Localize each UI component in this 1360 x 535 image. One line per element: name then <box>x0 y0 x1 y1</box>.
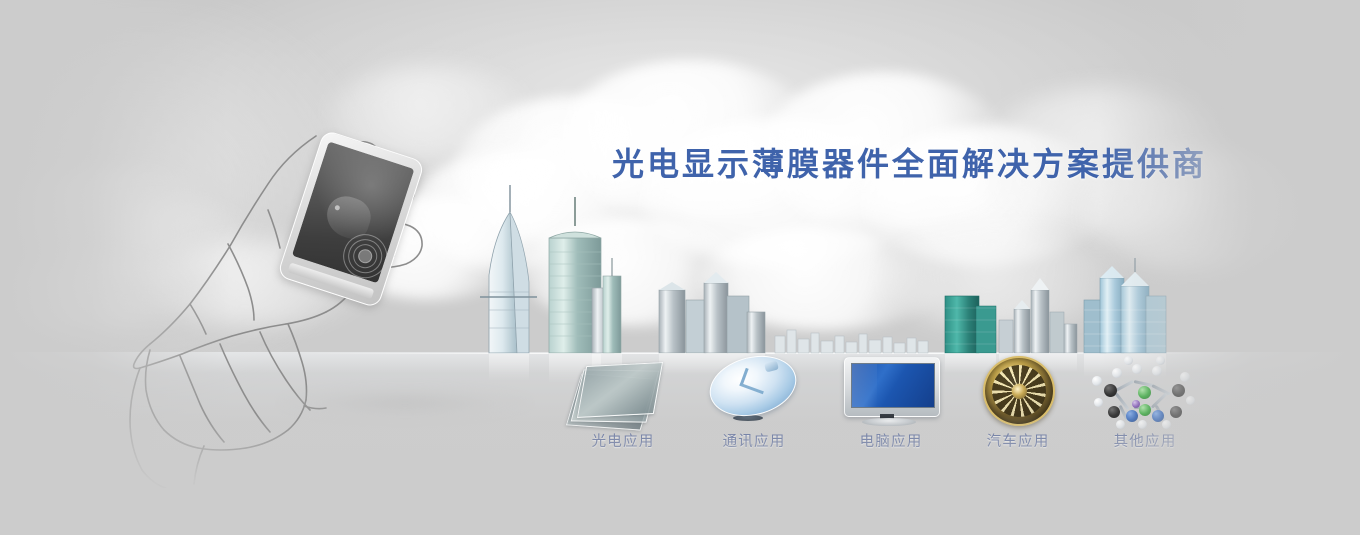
glass-panel-stack-icon <box>560 352 686 424</box>
atom-phosphorus <box>1132 400 1140 408</box>
hand-shadow <box>280 386 530 420</box>
atom-hydrogen <box>1152 366 1162 376</box>
atom-hydrogen <box>1138 420 1147 429</box>
molecule-bond <box>1151 384 1170 395</box>
app-label: 其他应用 <box>1082 430 1208 451</box>
computer-monitor-icon <box>828 352 954 424</box>
alloy-wheel-icon <box>955 352 1081 424</box>
app-item-computer[interactable]: 电脑应用 <box>828 352 954 451</box>
atom-hydrogen <box>1186 396 1195 405</box>
app-item-other[interactable]: 其他应用 <box>1082 352 1208 451</box>
app-label: 通讯应用 <box>691 430 817 451</box>
atom-hydrogen <box>1132 364 1142 374</box>
app-item-optoelectronic[interactable]: 光电应用 <box>560 352 686 451</box>
atom-carbon <box>1172 384 1185 397</box>
atom-hydrogen <box>1092 376 1102 386</box>
molecule-structure <box>1090 354 1200 424</box>
wheel-hub <box>1012 384 1027 399</box>
molecule-model-icon <box>1082 352 1208 424</box>
atom-metal-center <box>1139 404 1151 416</box>
atom-hydrogen <box>1094 398 1103 407</box>
app-item-automotive[interactable]: 汽车应用 <box>955 352 1081 451</box>
atom-hydrogen <box>1116 420 1125 429</box>
app-label: 汽车应用 <box>955 430 1081 451</box>
wheel-rim <box>983 356 1055 426</box>
glass-panel <box>577 362 663 418</box>
atom-hydrogen <box>1124 356 1133 365</box>
atom-carbon <box>1104 384 1117 397</box>
atom-metal-center <box>1138 386 1151 399</box>
atom-hydrogen <box>1112 368 1122 378</box>
monitor-foot <box>862 418 916 426</box>
molecule-bond <box>1151 393 1167 409</box>
app-label: 光电应用 <box>560 430 686 451</box>
dish-reflector <box>703 347 802 425</box>
atom-carbon <box>1170 406 1182 418</box>
atom-nitrogen <box>1126 410 1138 422</box>
atom-hydrogen <box>1162 420 1171 429</box>
atom-carbon <box>1108 406 1120 418</box>
monitor-screen <box>851 363 935 408</box>
atom-hydrogen <box>1180 372 1190 382</box>
application-icon-row: 光电应用 通讯应用 电脑应用 <box>560 352 1210 467</box>
monitor-body <box>844 357 940 417</box>
app-item-communication[interactable]: 通讯应用 <box>691 352 817 451</box>
atom-hydrogen <box>1156 356 1165 365</box>
hero-banner: 光电显示薄膜器件全面解决方案提供商 <box>0 0 1360 535</box>
atom-nitrogen <box>1152 410 1164 422</box>
page-title: 光电显示薄膜器件全面解决方案提供商 <box>612 139 1207 185</box>
app-label: 电脑应用 <box>828 430 954 451</box>
satellite-dish-icon <box>691 352 817 424</box>
